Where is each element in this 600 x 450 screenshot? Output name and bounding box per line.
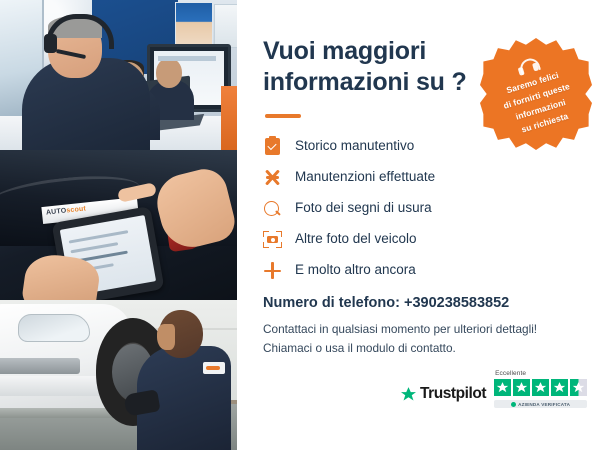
- call-center-agent-photo: [0, 0, 237, 150]
- clipboard-check-icon: [263, 137, 282, 156]
- list-item[interactable]: E molto altro ancora: [263, 260, 578, 281]
- feature-list: Storico manutentivo Manutenzioni effettu…: [263, 136, 578, 281]
- orange-equipment: [221, 86, 237, 150]
- info-on-request-badge: Saremo felici di fornirti queste informa…: [480, 38, 592, 150]
- contact-copy: Contattaci in qualsiasi momento per ulte…: [263, 320, 578, 358]
- uniform-logo-patch: [203, 362, 225, 374]
- background-colleague-two-head: [156, 58, 182, 88]
- star-icon: [572, 381, 585, 394]
- star-box: [494, 379, 511, 396]
- promo-card: AUTOscout: [0, 0, 600, 450]
- verified-label: AZIENDA VERIFICATA: [518, 402, 570, 407]
- phone-line[interactable]: Numero di telefono: +390238583852: [263, 295, 578, 311]
- headset-icon: [516, 57, 539, 76]
- feature-label: Foto dei segni di usura: [295, 200, 432, 216]
- headset-earcup: [44, 34, 57, 53]
- trustpilot-star-icon: [400, 386, 417, 403]
- page-title: Vuoi maggiori informazioni su ?: [263, 36, 473, 98]
- feature-label: E molto altro ancora: [295, 262, 416, 278]
- trustpilot-wordmark: Trustpilot: [420, 385, 486, 403]
- auto-sticker-label: AUTOscout: [46, 205, 87, 216]
- contact-copy-line-1: Contattaci in qualsiasi momento per ulte…: [263, 322, 537, 336]
- title-divider: [265, 114, 301, 118]
- star-icon: [515, 381, 528, 394]
- star-icon: [496, 381, 509, 394]
- content-panel: Vuoi maggiori informazioni su ? Saremo f…: [237, 0, 600, 450]
- mechanic-face: [157, 324, 175, 350]
- verified-check-icon: [511, 402, 516, 407]
- feature-label: Altre foto del veicolo: [295, 231, 417, 247]
- wall-poster: [175, 2, 213, 50]
- trustpilot-widget[interactable]: Trustpilot Eccellente: [400, 370, 587, 408]
- star-icon: [553, 381, 566, 394]
- star-rating: [494, 379, 587, 396]
- star-box: [513, 379, 530, 396]
- magnifier-icon: [263, 199, 282, 218]
- rating-label: Eccellente: [495, 370, 526, 377]
- phone-label: Numero di telefono:: [263, 295, 400, 311]
- list-item[interactable]: Manutenzioni effettuate: [263, 167, 578, 188]
- vehicle-inspection-tablet-photo: AUTOscout: [0, 150, 237, 300]
- star-box-half: [570, 379, 587, 396]
- photo-column: AUTOscout: [0, 0, 237, 450]
- trustpilot-rating: Eccellente: [494, 370, 587, 408]
- feature-label: Manutenzioni effettuate: [295, 169, 435, 185]
- verified-business-badge: AZIENDA VERIFICATA: [494, 400, 587, 408]
- feature-label: Storico manutentivo: [295, 138, 414, 154]
- list-item[interactable]: Altre foto del veicolo: [263, 229, 578, 250]
- wall-poster-secondary: [214, 4, 237, 48]
- photo-frame-icon: [263, 230, 282, 249]
- car-bumper: [0, 376, 108, 396]
- mechanic-wheel-check-photo: [0, 300, 237, 450]
- tools-cross-icon: [263, 168, 282, 187]
- phone-number[interactable]: +390238583852: [404, 295, 509, 311]
- star-icon: [534, 381, 547, 394]
- list-item[interactable]: Foto dei segni di usura: [263, 198, 578, 219]
- plus-icon: [263, 261, 282, 280]
- car-grille: [0, 358, 80, 374]
- trustpilot-logo: Trustpilot: [400, 385, 486, 408]
- star-box: [532, 379, 549, 396]
- contact-copy-line-2: Chiamaci o usa il modulo di contatto.: [263, 341, 456, 355]
- car-headlight: [18, 314, 90, 342]
- star-box: [551, 379, 568, 396]
